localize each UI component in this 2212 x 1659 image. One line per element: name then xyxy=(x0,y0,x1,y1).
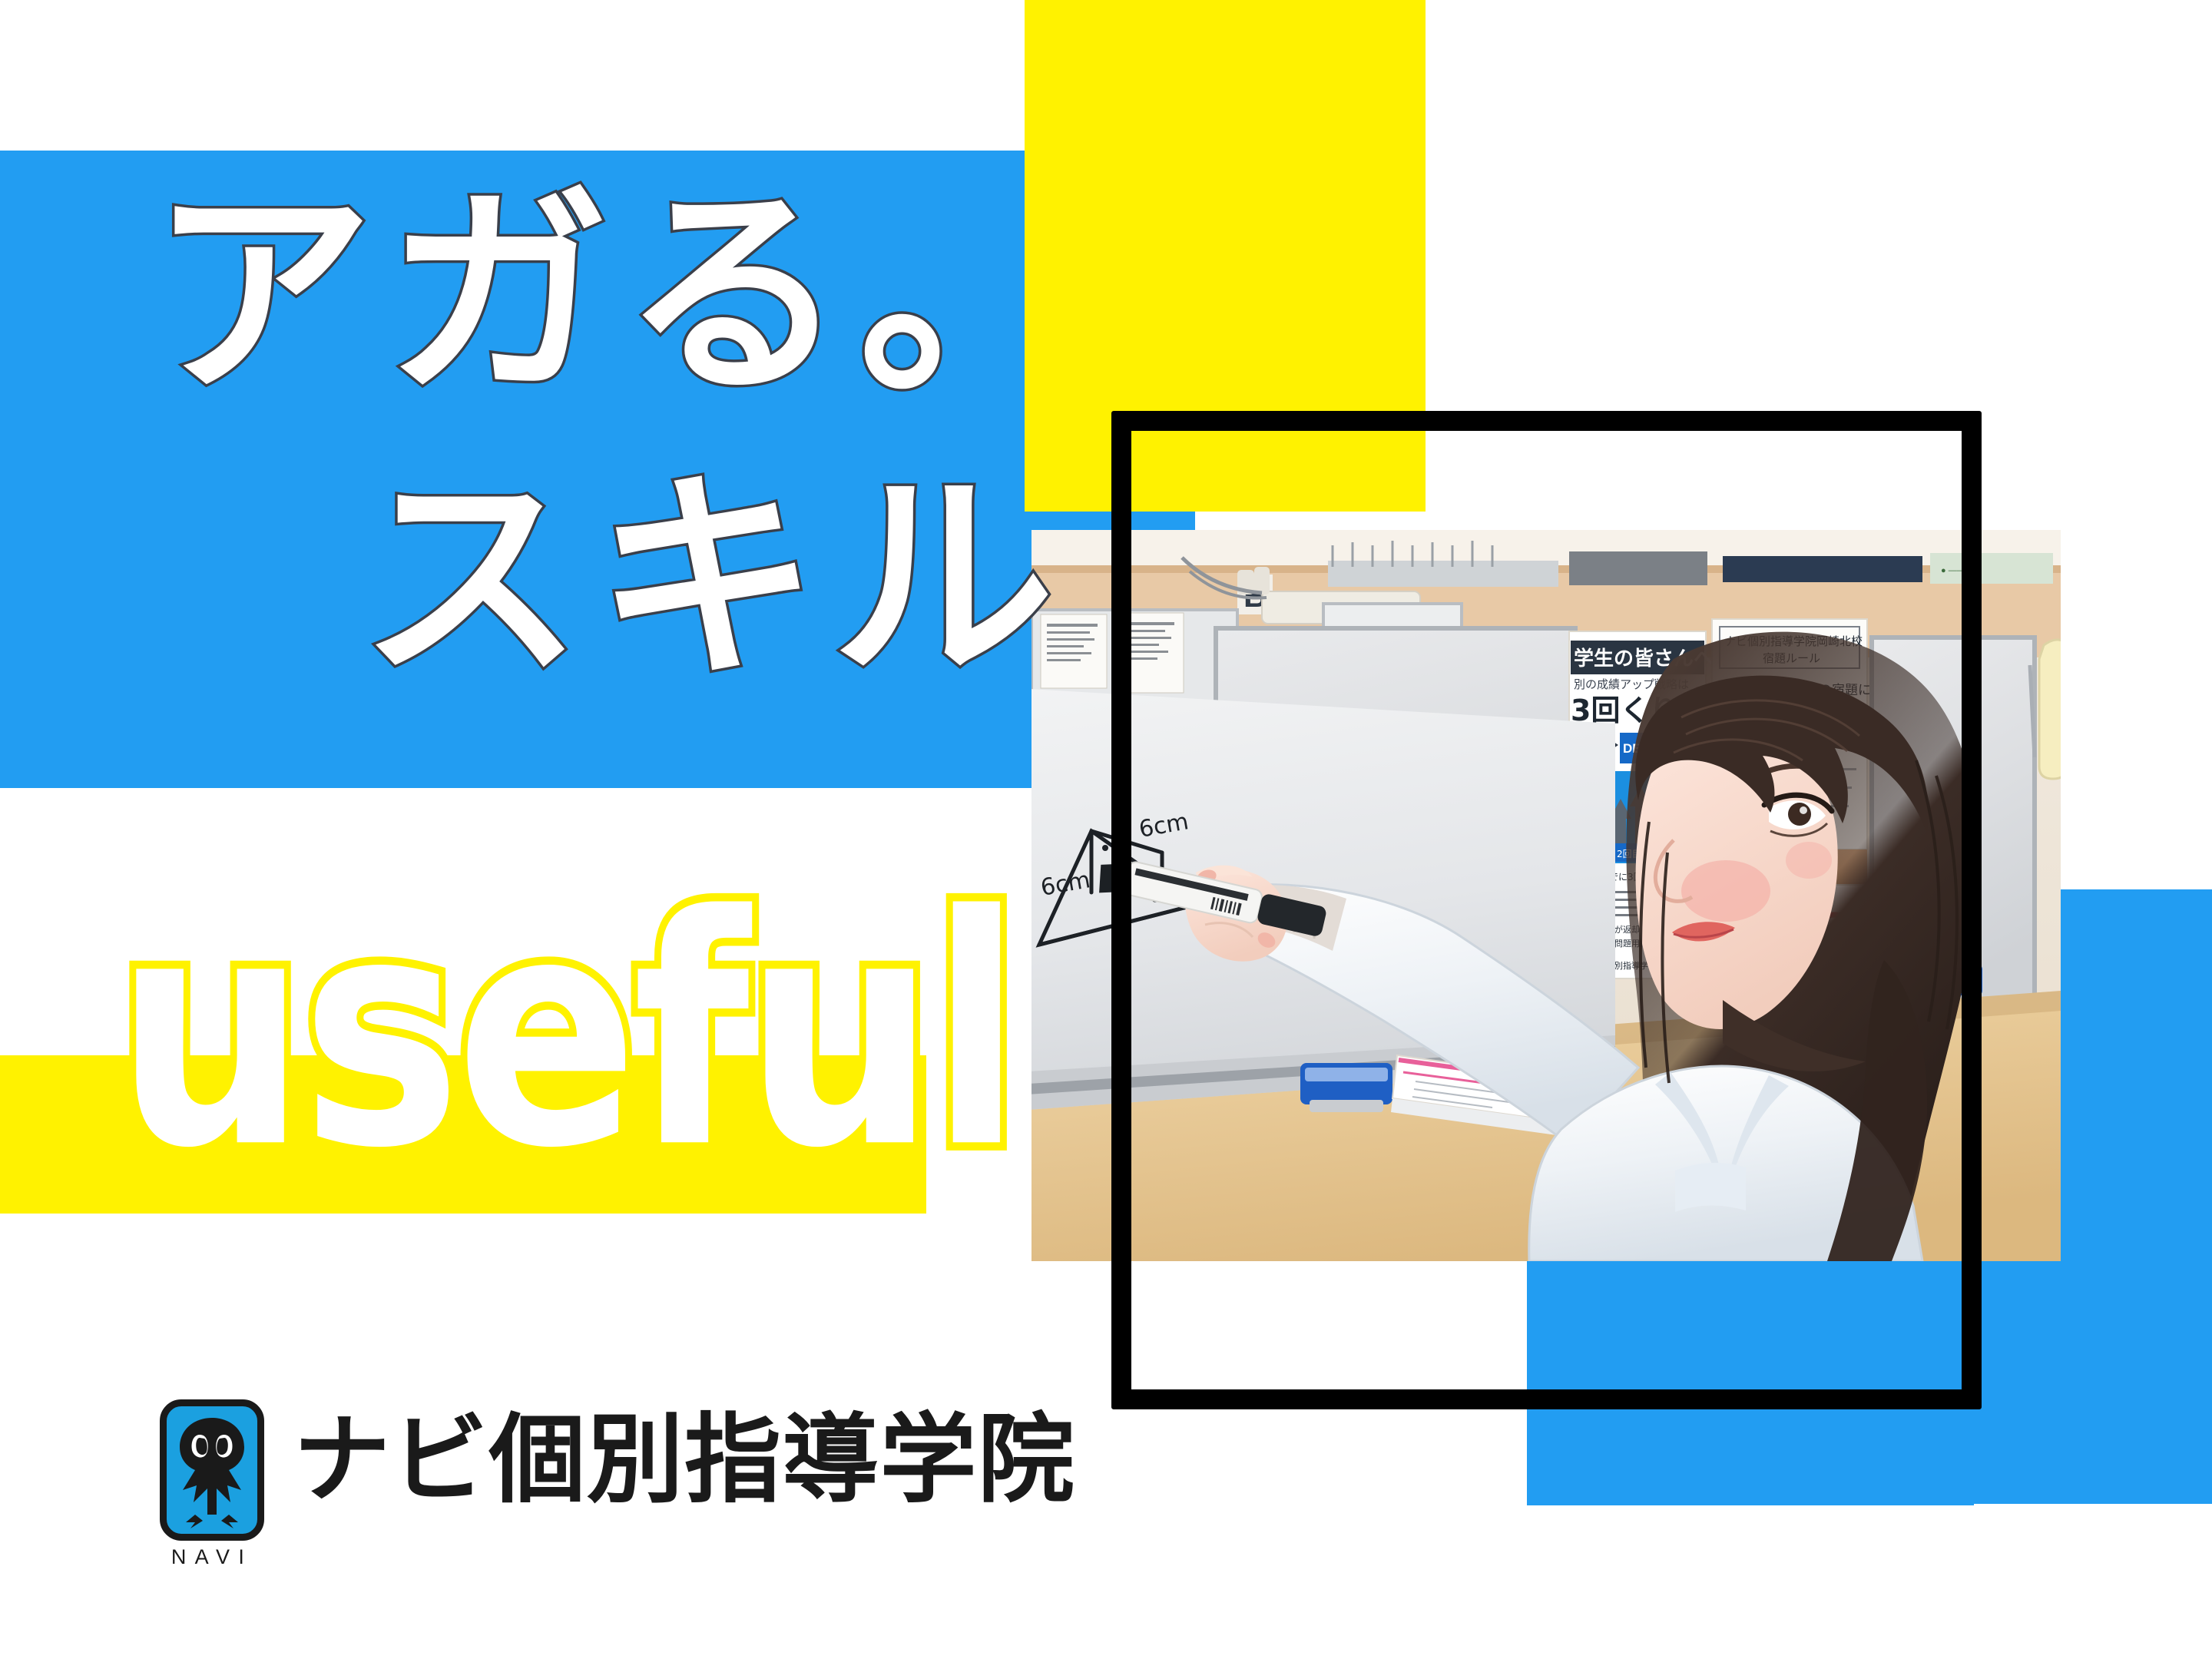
poster-canvas: ● ——— B xyxy=(0,0,2212,1659)
brand-logo: NAVI ナビ個別指導学院 xyxy=(160,1399,1075,1541)
navi-mascot-icon: NAVI xyxy=(160,1399,264,1541)
headline-line-1: アガる。 xyxy=(151,184,1095,407)
blue-block-lower xyxy=(1527,1260,1974,1505)
useful-word: useful xyxy=(115,874,1017,1191)
classroom-photo: ● ——— B xyxy=(1031,530,2061,1261)
brand-wordmark: ナビ個別指導学院 xyxy=(293,1412,1075,1508)
classroom-photo-illustration: ● ——— B xyxy=(1031,530,2061,1261)
headline-line-2: スキル xyxy=(359,469,1068,691)
svg-text:● ———: ● ——— xyxy=(1941,566,1974,575)
navi-mascot-figure xyxy=(160,1399,264,1541)
navi-wordmark-sub: NAVI xyxy=(160,1545,264,1569)
